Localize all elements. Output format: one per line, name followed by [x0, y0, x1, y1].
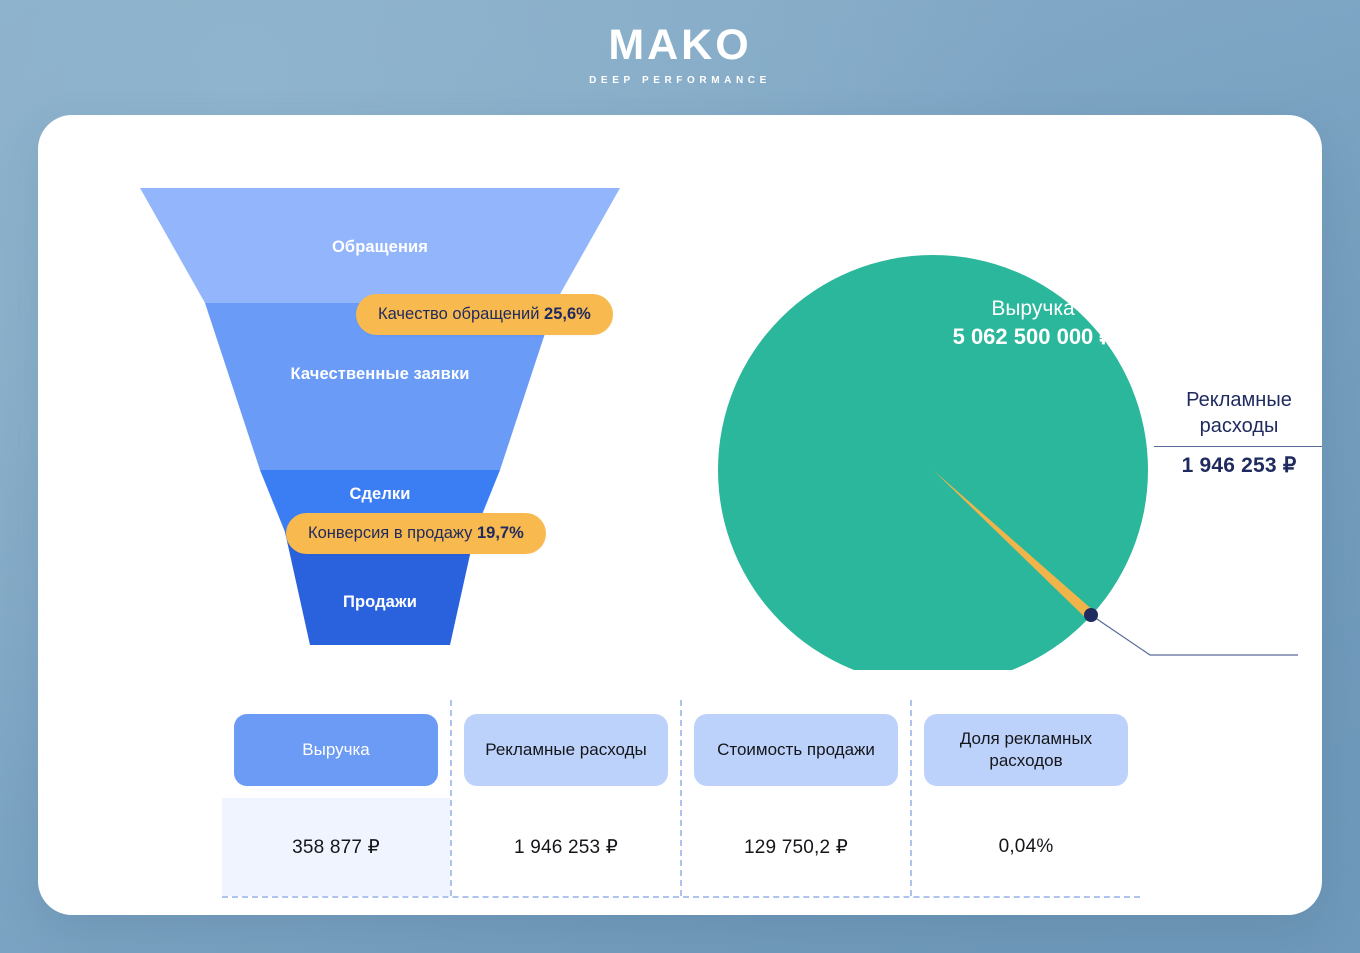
brand-logo-text: MAKO	[608, 24, 751, 67]
callout-leader-line	[1091, 615, 1298, 655]
metrics-table: Выручка 358 877 ₽ Рекламные расходы 1 94…	[222, 700, 1140, 898]
badge-lead-quality-value: 25,6%	[544, 305, 591, 323]
table-cell-revenue: 358 877 ₽	[222, 798, 450, 896]
table-cell-cost-per-sale: 129 750,2 ₽	[682, 798, 910, 896]
table-header-ad-spend: Рекламные расходы	[464, 714, 668, 786]
pie-callout-rule	[1154, 446, 1322, 447]
pie-callout-title: Рекламные расходы	[1154, 388, 1322, 439]
report-card: Обращения Качественные заявки Сделки Про…	[38, 115, 1322, 915]
revenue-pie-chart: Выручка 5 062 500 000 ₽ Рекламные расход…	[658, 170, 1298, 670]
badge-sales-conversion: Конверсия в продажу 19,7%	[286, 513, 546, 554]
infographic-canvas: MAKO DEEP PERFORMANCE Обращения Качестве…	[0, 0, 1360, 953]
badge-sales-conversion-label: Конверсия в продажу	[308, 524, 477, 542]
pie-callout-ad-spend: Рекламные расходы 1 946 253 ₽	[1154, 388, 1322, 478]
table-column-ad-share: Доля рекламных расходов 0,04%	[910, 700, 1140, 896]
funnel-label-prodazhi: Продажи	[343, 593, 417, 612]
pie-callout-value: 1 946 253 ₽	[1154, 453, 1322, 478]
table-header-ad-share: Доля рекламных расходов	[924, 714, 1128, 786]
callout-marker-dot	[1084, 608, 1098, 622]
table-cell-ad-share: 0,04%	[912, 798, 1140, 896]
table-header-cost-per-sale: Стоимость продажи	[694, 714, 898, 786]
table-header-revenue: Выручка	[234, 714, 438, 786]
badge-lead-quality: Качество обращений 25,6%	[356, 294, 613, 335]
funnel-label-obrashcheniya: Обращения	[332, 238, 428, 257]
funnel-label-kachestvennye-zayavki: Качественные заявки	[291, 365, 470, 384]
funnel-label-sdelki: Сделки	[349, 485, 410, 504]
table-column-cost-per-sale: Стоимость продажи 129 750,2 ₽	[680, 700, 910, 896]
brand-tagline: DEEP PERFORMANCE	[0, 76, 1360, 86]
badge-lead-quality-label: Качество обращений	[378, 305, 544, 323]
table-column-revenue: Выручка 358 877 ₽	[222, 700, 450, 896]
sales-funnel-chart: Обращения Качественные заявки Сделки Про…	[100, 185, 660, 655]
table-column-ad-spend: Рекламные расходы 1 946 253 ₽	[450, 700, 680, 896]
brand-header: MAKO DEEP PERFORMANCE	[0, 24, 1360, 86]
badge-sales-conversion-value: 19,7%	[477, 524, 524, 542]
table-cell-ad-spend: 1 946 253 ₽	[452, 798, 680, 896]
